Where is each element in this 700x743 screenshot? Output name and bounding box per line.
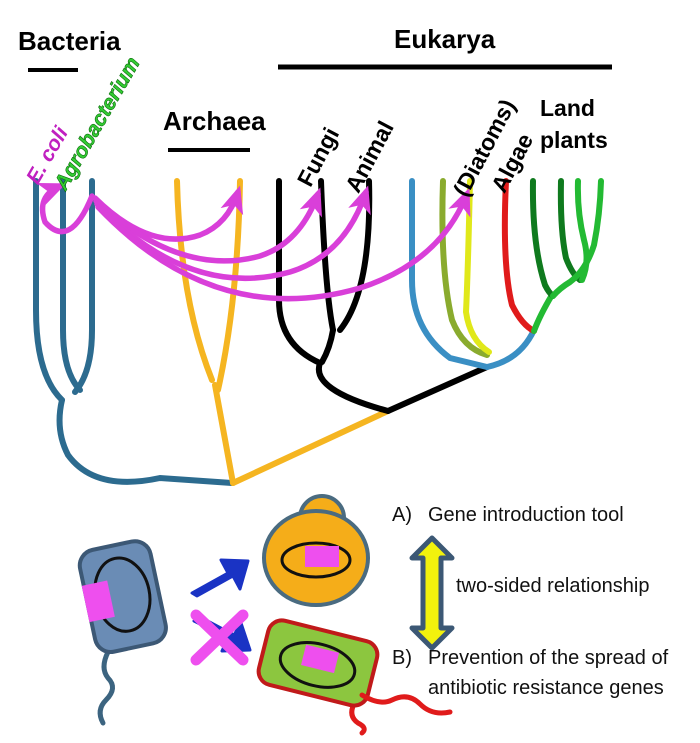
protist-upper-stem: [487, 330, 534, 367]
domain-heading-bacteria: Bacteria: [18, 28, 121, 55]
eukarya-right-stem: [388, 367, 487, 411]
land-plants-stem: [534, 295, 552, 331]
figure-canvas: Bacteria Archaea Eukarya E. coli Agrobac…: [0, 0, 700, 743]
bacteria-branch-1: [36, 181, 62, 400]
fungi-animal-node: [322, 330, 333, 362]
two-way-arrow-shape: [412, 538, 452, 648]
blue-arrow-up: [192, 560, 248, 596]
donor-flagellum: [100, 652, 112, 723]
archaea-stem: [215, 385, 233, 483]
bacteria-branch-ecoli: [63, 181, 80, 390]
annotation-b-text-line2: antibiotic resistance genes: [428, 678, 664, 699]
algae-branch: [466, 181, 489, 352]
annotation-b-text-line1: Prevention of the spread of: [428, 648, 668, 669]
taxon-label-plants: plants: [540, 128, 608, 152]
eukaryote-inserted-gene: [305, 546, 339, 567]
annotation-b-label: B): [392, 648, 412, 669]
plant-branch-1: [533, 181, 553, 296]
eukaryote-cell-group: [264, 496, 368, 605]
hgt-arrows: [43, 186, 467, 299]
donor-cell-group: [75, 538, 169, 723]
animal-branch: [340, 181, 369, 330]
two-sided-relationship-label: two-sided relationship: [456, 576, 649, 597]
domain-heading-eukarya: Eukarya: [394, 26, 495, 53]
red-algae-branch: [505, 181, 534, 331]
transfer-arrow-to-eukaryote: [192, 560, 248, 596]
eukarya-left-stem: [319, 363, 388, 411]
annotation-a-text: Gene introduction tool: [428, 505, 624, 526]
hgt-to-fungi-arrow: [96, 194, 318, 261]
bacteria-stem: [60, 400, 232, 483]
domain-heading-archaea: Archaea: [163, 108, 266, 135]
root-stem-archaea: [233, 411, 388, 483]
annotation-a-label: A): [392, 505, 412, 526]
eukarya-colored-clade: [412, 181, 601, 367]
taxon-label-land: Land: [540, 96, 595, 120]
two-sided-relationship-arrow: [412, 538, 452, 648]
transfer-arrow-to-bacterium-blocked: [194, 615, 250, 660]
